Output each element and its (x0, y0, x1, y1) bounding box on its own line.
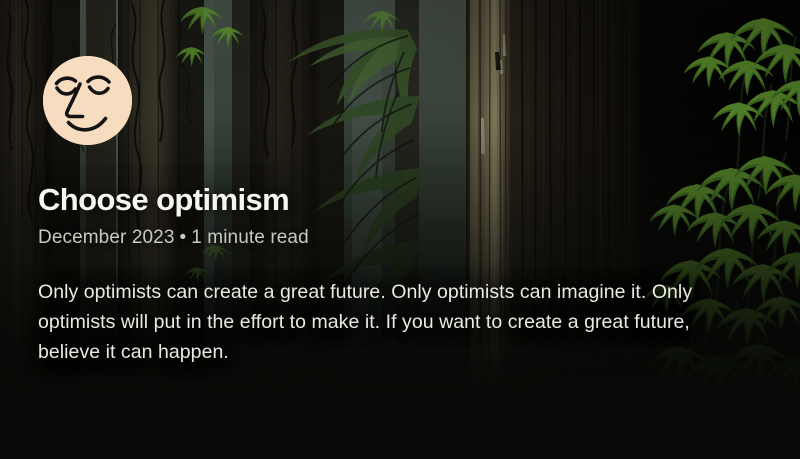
read-time: 1 minute read (191, 227, 308, 248)
article-content: Choose optimism December 2023•1 minute r… (38, 183, 760, 367)
article-excerpt: Only optimists can create a great future… (38, 277, 728, 367)
avatar[interactable] (43, 56, 132, 145)
meta-separator: • (175, 227, 192, 248)
article-meta: December 2023•1 minute read (38, 227, 760, 250)
publish-date: December 2023 (38, 227, 175, 248)
page-title: Choose optimism (38, 183, 760, 216)
article-hero-card[interactable]: Choose optimism December 2023•1 minute r… (0, 0, 800, 459)
smiling-face-icon (43, 56, 132, 145)
